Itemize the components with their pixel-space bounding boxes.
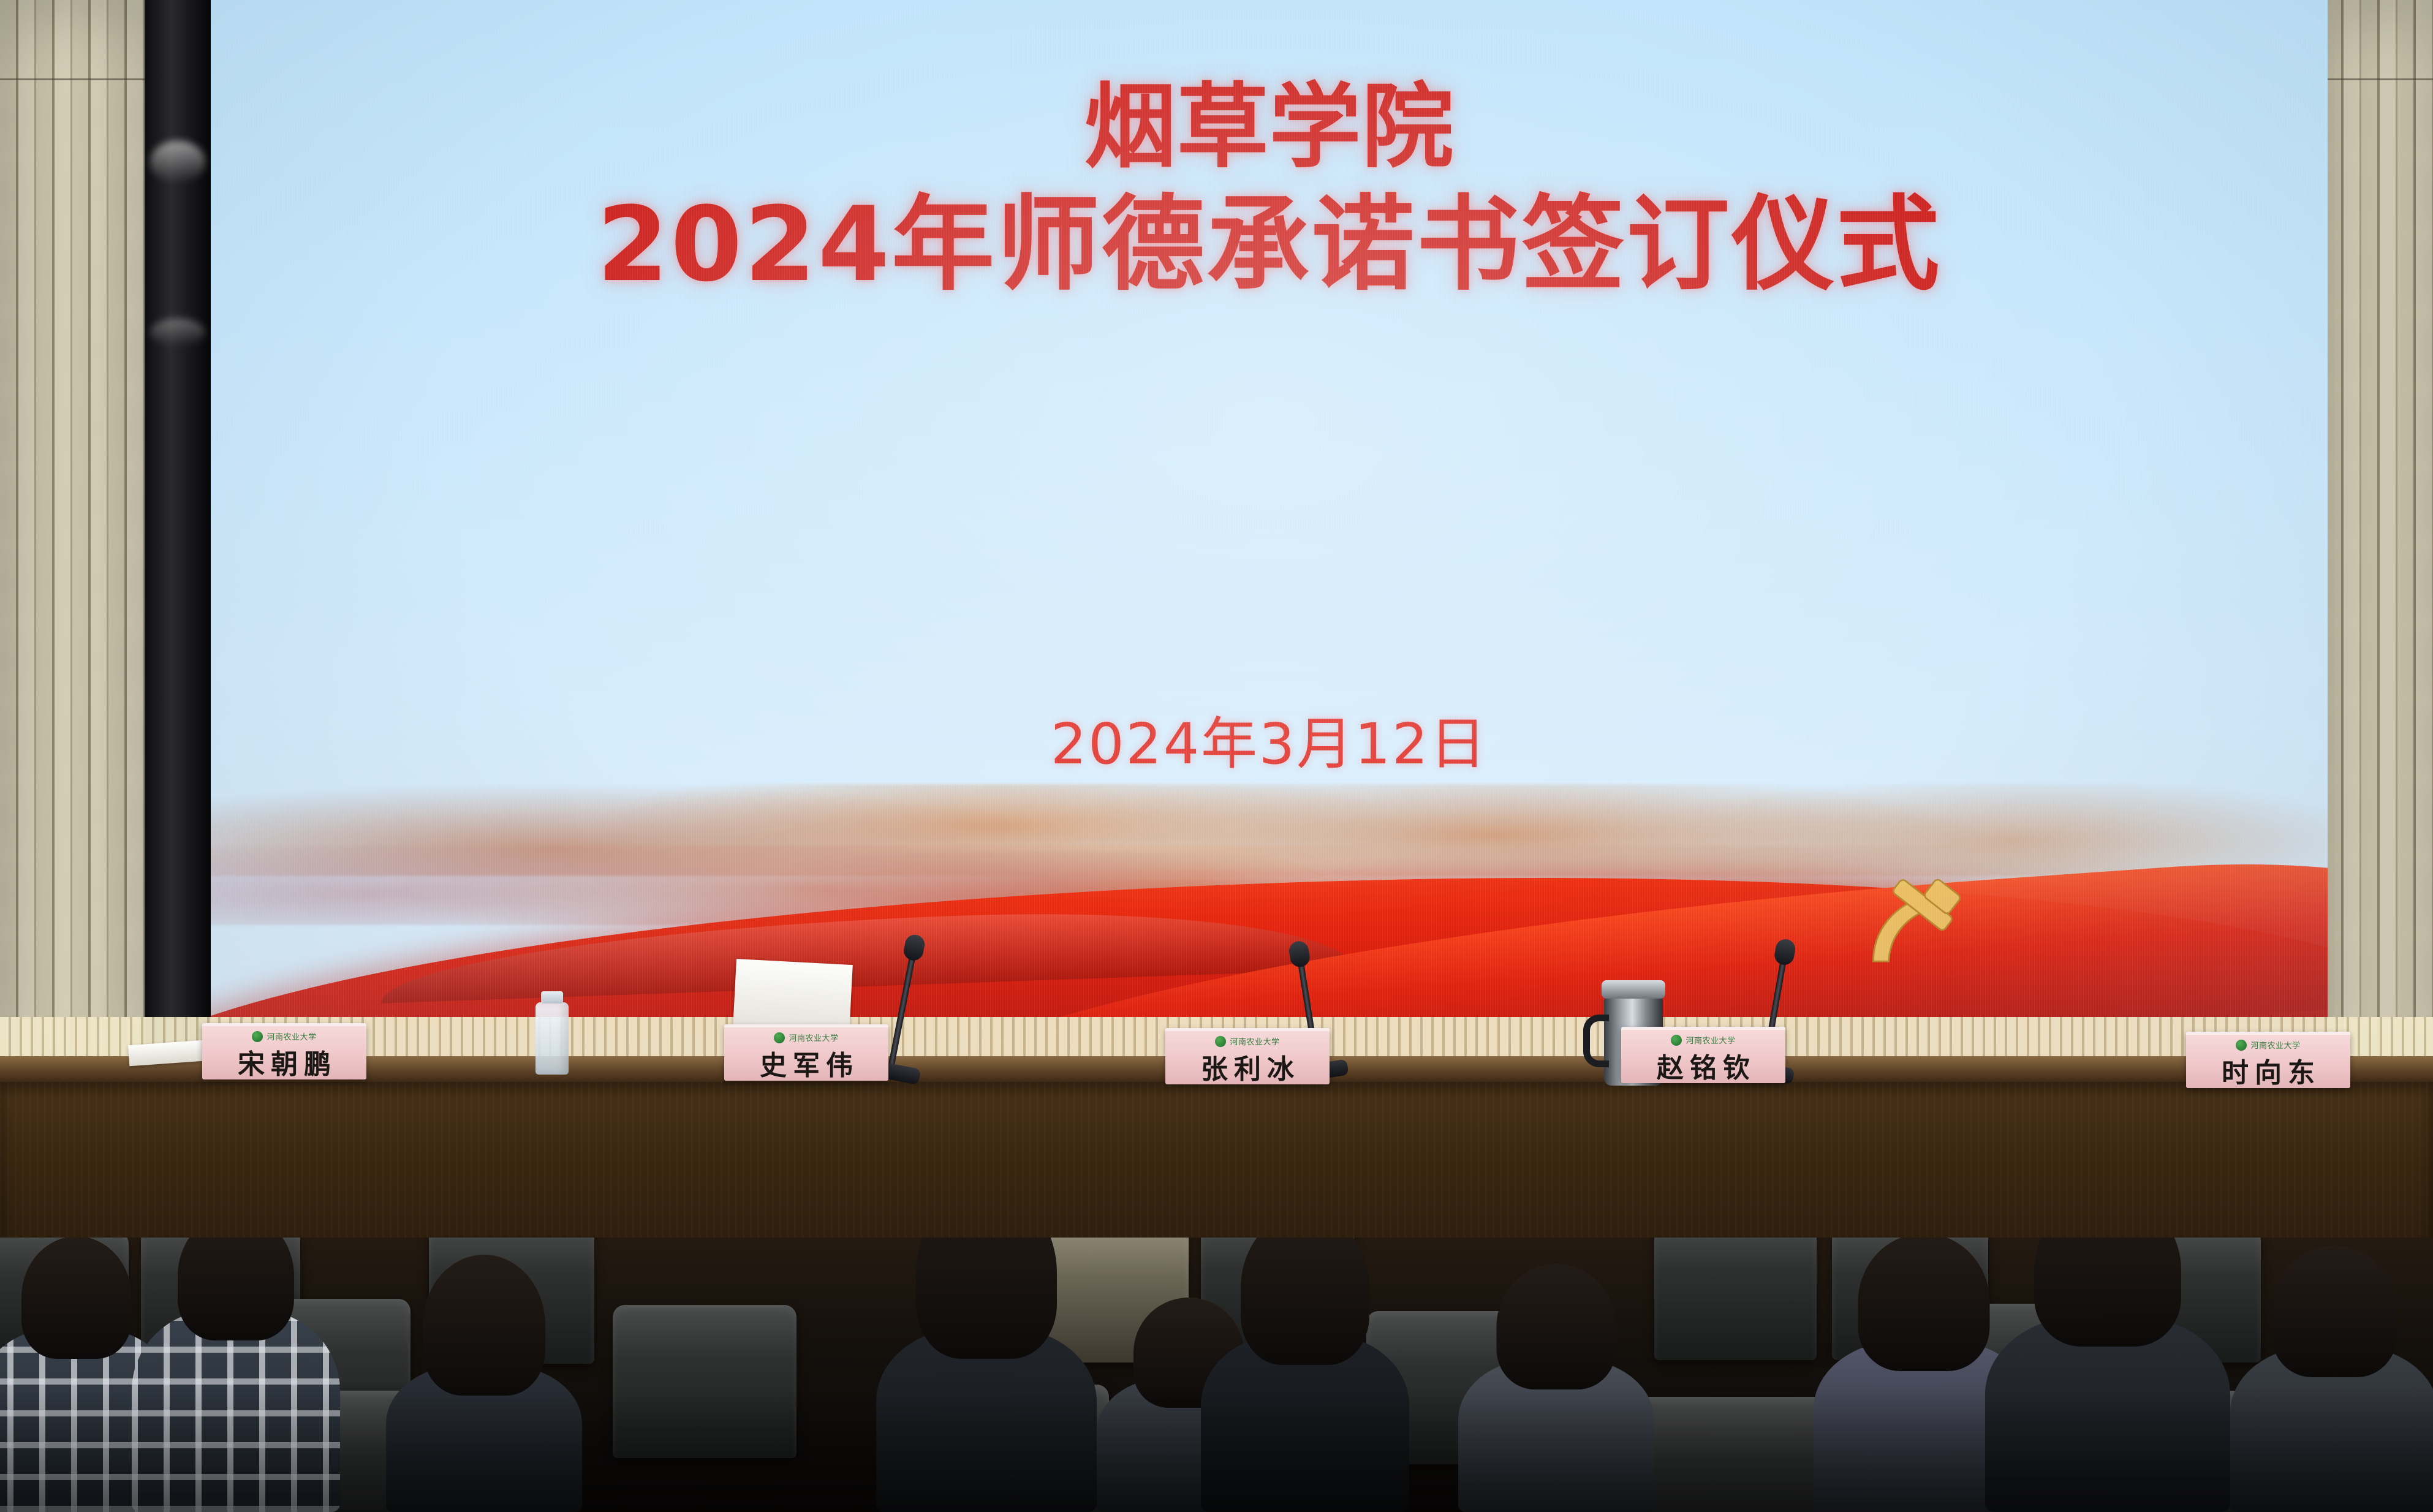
attendee-head <box>178 1238 294 1340</box>
nameplate-org: 河南农业大学 <box>267 1030 316 1042</box>
wall-seam <box>2325 78 2433 80</box>
nameplate-name: 赵铭钦 <box>1651 1046 1756 1083</box>
audience-person <box>135 1238 337 1512</box>
slide-title-line1: 烟草学院 <box>211 74 2328 182</box>
nameplate-org: 河南农业大学 <box>2250 1039 2300 1051</box>
nameplate-org: 河南农业大学 <box>789 1032 838 1043</box>
nameplate-4: 河南农业大学 赵铭钦 <box>1621 1027 1785 1083</box>
attendee-head <box>423 1255 545 1396</box>
nameplate-name: 张利冰 <box>1195 1047 1300 1084</box>
university-logo-icon <box>1215 1036 1226 1047</box>
nameplate-1: 河南农业大学 宋朝鹏 <box>202 1023 366 1079</box>
audience-seat <box>1654 1238 1817 1360</box>
bottle-cap <box>541 991 563 1004</box>
attendee-head <box>1497 1264 1616 1389</box>
nameplate-name: 时向东 <box>2215 1051 2321 1088</box>
thermos-lid <box>1602 980 1665 999</box>
slide-artwork <box>211 717 2328 1060</box>
university-logo-icon <box>2236 1040 2247 1051</box>
attendee-head <box>21 1238 132 1359</box>
attendee-head <box>2034 1238 2181 1347</box>
nameplate-name: 宋朝鹏 <box>232 1042 337 1079</box>
wall-panel-right <box>2325 0 2433 1092</box>
university-logo-icon <box>252 1031 263 1042</box>
nameplate-org: 河南农业大学 <box>1686 1034 1735 1046</box>
nameplate-2: 河南农业大学 史军伟 <box>724 1024 888 1081</box>
hammer-and-sickle-icon <box>1848 854 1989 1001</box>
conference-hall-scene: 烟草学院 2024年师德承诺书签订仪式 2024年3月12日 <box>0 0 2433 1512</box>
audience-person <box>1458 1298 1654 1512</box>
bezel-highlight <box>150 319 206 347</box>
wall-panel-left <box>0 0 147 1092</box>
audience-person <box>1985 1238 2230 1512</box>
screen-bezel-left <box>145 0 211 1092</box>
water-bottle <box>535 1002 569 1075</box>
wall-seam <box>0 78 147 80</box>
audience-person <box>2230 1279 2433 1512</box>
slide-title-line2: 2024年师德承诺书签订仪式 <box>211 182 2328 308</box>
university-logo-icon <box>1671 1035 1682 1046</box>
nameplate-brand: 河南农业大学 <box>1671 1034 1735 1046</box>
nameplate-brand: 河南农业大学 <box>1215 1035 1279 1047</box>
attendee-head <box>2272 1246 2397 1377</box>
attendee-head <box>1858 1238 1990 1371</box>
attendee-head <box>916 1238 1057 1359</box>
nameplate-brand: 河南农业大学 <box>774 1032 838 1043</box>
audience-seat <box>613 1305 796 1458</box>
university-logo-icon <box>774 1032 785 1043</box>
audience-person <box>876 1238 1097 1512</box>
nameplate-brand: 河南农业大学 <box>252 1030 316 1042</box>
nameplate-org: 河南农业大学 <box>1230 1035 1279 1047</box>
audience-area <box>0 1238 2433 1512</box>
attendee-head <box>1241 1238 1369 1365</box>
audience-person <box>386 1310 582 1512</box>
nameplate-brand: 河南农业大学 <box>2236 1039 2300 1051</box>
thermos-handle <box>1583 1015 1609 1067</box>
projection-screen: 烟草学院 2024年师德承诺书签订仪式 2024年3月12日 <box>211 0 2328 1060</box>
nameplate-5: 河南农业大学 时向东 <box>2186 1032 2350 1088</box>
audience-person <box>1201 1255 1409 1512</box>
bezel-highlight <box>150 141 206 184</box>
nameplate-name: 史军伟 <box>754 1043 859 1081</box>
nameplate-3: 河南农业大学 张利冰 <box>1165 1028 1330 1084</box>
slide-title: 烟草学院 2024年师德承诺书签订仪式 <box>211 74 2328 308</box>
